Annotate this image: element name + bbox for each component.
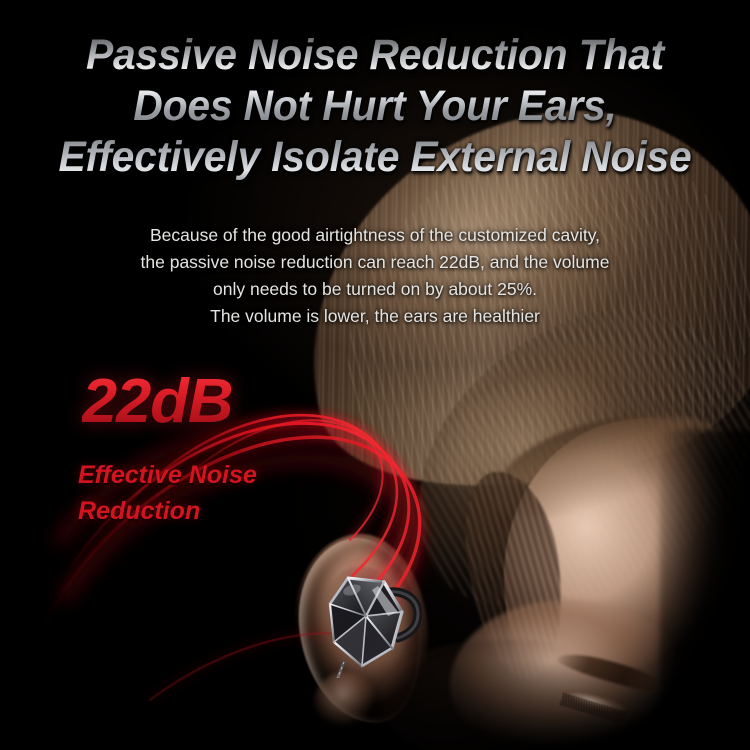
noise-reduction-value: 22dB [82, 371, 233, 433]
body-paragraph: Because of the good airtightness of the … [55, 222, 695, 330]
body-line-3: only needs to be turned on by about 25%. [55, 276, 695, 303]
headline-line-3: Effectively Isolate External Noise [19, 132, 732, 183]
body-line-2: the passive noise reduction can reach 22… [55, 249, 695, 276]
caption-line-2: Reduction [78, 493, 358, 529]
faceted-earphone [318, 566, 422, 678]
body-line-4: The volume is lower, the ears are health… [55, 303, 695, 330]
caption-line-1: Effective Noise [78, 457, 358, 493]
headline-line-2: Does Not Hurt Your Ears, [19, 81, 732, 132]
product-ad-poster: Passive Noise Reduction That Does Not Hu… [0, 0, 750, 750]
page-title: Passive Noise Reduction That Does Not Hu… [19, 30, 732, 183]
noise-reduction-caption: Effective Noise Reduction [78, 457, 358, 529]
body-line-1: Because of the good airtightness of the … [55, 222, 695, 249]
headline-line-1: Passive Noise Reduction That [19, 30, 732, 81]
